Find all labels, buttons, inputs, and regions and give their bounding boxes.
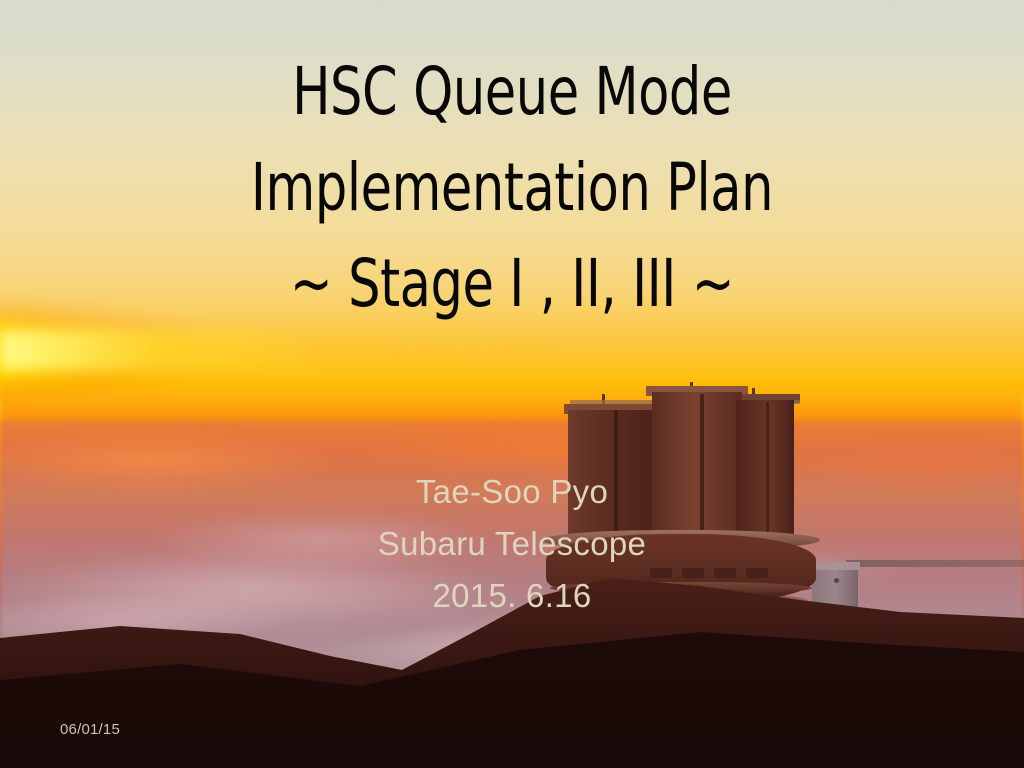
date-stamp: 06/01/15 (60, 721, 120, 738)
subtitle: Tae-Soo Pyo Subaru Telescope 2015. 6.16 (0, 466, 1024, 622)
title-line-3: ~ Stage I , II, III ~ (72, 236, 953, 332)
page-title: HSC Queue Mode Implementation Plan ~ Sta… (0, 44, 1024, 332)
title-line-2: Implementation Plan (72, 140, 953, 236)
subtitle-affiliation: Subaru Telescope (0, 518, 1024, 570)
title-line-1: HSC Queue Mode (72, 44, 953, 140)
sun-horizon-streak (0, 330, 560, 370)
presentation-slide: HSC Queue Mode Implementation Plan ~ Sta… (0, 0, 1024, 768)
subtitle-date: 2015. 6.16 (0, 570, 1024, 622)
subtitle-author: Tae-Soo Pyo (0, 466, 1024, 518)
